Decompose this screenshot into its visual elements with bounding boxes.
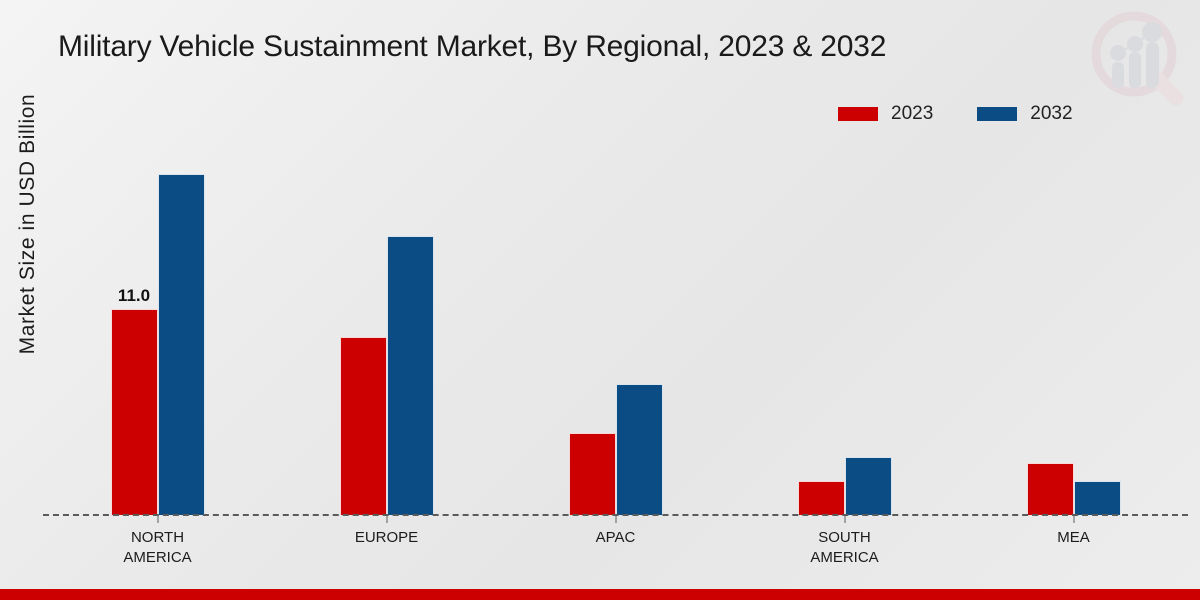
legend-label-2032: 2032 bbox=[1030, 104, 1072, 123]
bar-2023-apac[interactable] bbox=[569, 433, 616, 516]
bar-pair bbox=[1027, 140, 1121, 515]
legend-swatch-2023 bbox=[838, 107, 878, 121]
x-axis-label-europe: EUROPE bbox=[355, 528, 418, 548]
y-axis-title: Market Size in USD Billion bbox=[16, 44, 40, 404]
x-axis-tick bbox=[157, 515, 158, 523]
chart-legend: 2023 2032 bbox=[838, 104, 1073, 123]
bar-2032-north-america[interactable] bbox=[158, 174, 205, 515]
legend-swatch-2032 bbox=[977, 107, 1017, 121]
bar-group-north-america: 11.0 NORTH AMERICA bbox=[43, 140, 272, 515]
bar-group-mea: MEA bbox=[959, 140, 1188, 515]
bar-2032-mea[interactable] bbox=[1074, 481, 1121, 515]
bar-2032-europe[interactable] bbox=[387, 236, 434, 515]
bar-pair: 11.0 bbox=[111, 140, 205, 515]
plot-area: 11.0 NORTH AMERICA EUROPE bbox=[43, 140, 1188, 515]
x-axis-label-apac: APAC bbox=[596, 528, 636, 548]
bar-group-south-america: SOUTH AMERICA bbox=[730, 140, 959, 515]
bar-2032-apac[interactable] bbox=[616, 384, 663, 515]
x-axis-label-south-america: SOUTH AMERICA bbox=[810, 528, 878, 569]
chart-page: Military Vehicle Sustainment Market, By … bbox=[0, 0, 1200, 600]
bar-2032-south-america[interactable] bbox=[845, 457, 892, 515]
legend-item-2023[interactable]: 2023 bbox=[838, 104, 933, 123]
x-axis-tick bbox=[1073, 515, 1074, 523]
bar-2023-south-america[interactable] bbox=[798, 481, 845, 515]
x-axis-baseline bbox=[43, 514, 1188, 516]
bar-pair bbox=[569, 140, 663, 515]
bar-2023-europe[interactable] bbox=[340, 337, 387, 515]
bar-2023-north-america[interactable]: 11.0 bbox=[111, 309, 158, 515]
bar-groups: 11.0 NORTH AMERICA EUROPE bbox=[43, 140, 1188, 515]
x-axis-label-mea: MEA bbox=[1057, 528, 1090, 548]
legend-label-2023: 2023 bbox=[891, 104, 933, 123]
bar-pair bbox=[798, 140, 892, 515]
bar-group-apac: APAC bbox=[501, 140, 730, 515]
x-axis-tick bbox=[844, 515, 845, 523]
x-axis-label-north-america: NORTH AMERICA bbox=[123, 528, 191, 569]
bar-value-label-north-america-2023: 11.0 bbox=[118, 286, 150, 306]
watermark-logo-icon bbox=[1080, 4, 1192, 112]
bar-2023-mea[interactable] bbox=[1027, 463, 1074, 516]
chart-title: Military Vehicle Sustainment Market, By … bbox=[58, 30, 1058, 64]
bar-pair bbox=[340, 140, 434, 515]
x-axis-tick bbox=[615, 515, 616, 523]
legend-item-2032[interactable]: 2032 bbox=[977, 104, 1072, 123]
x-axis-tick bbox=[386, 515, 387, 523]
bottom-accent-stripe bbox=[0, 589, 1200, 600]
bar-group-europe: EUROPE bbox=[272, 140, 501, 515]
